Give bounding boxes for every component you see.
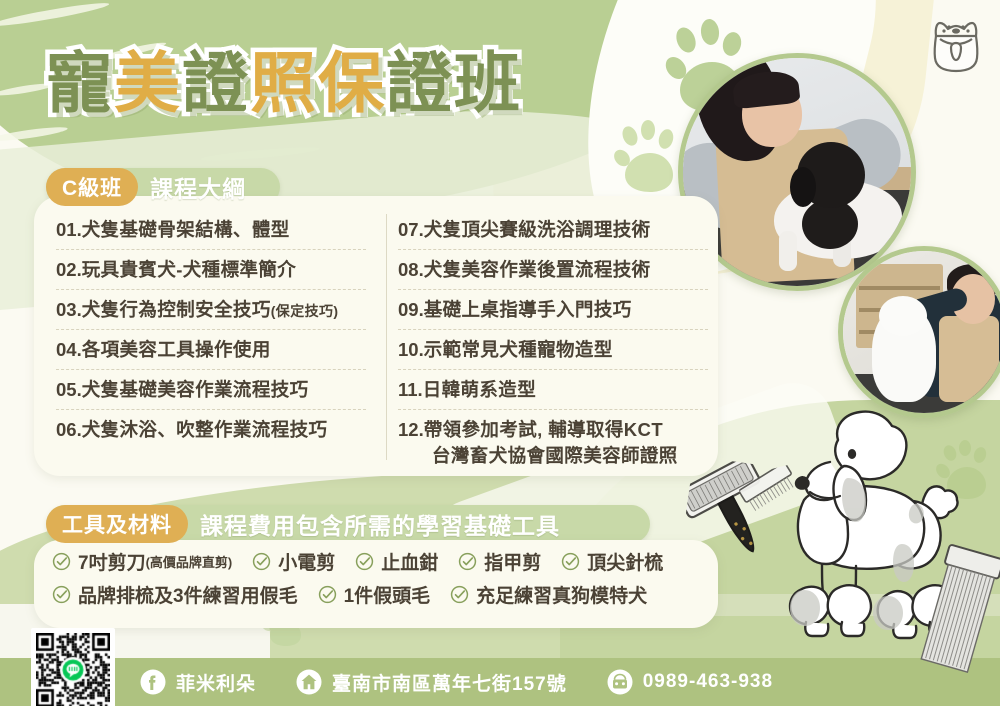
check-circle-icon: [355, 552, 374, 571]
course-outline-header: C級班 課程大綱: [46, 168, 266, 206]
course-item-number: 01.: [56, 219, 82, 240]
course-item: 03.犬隻行為控制安全技巧(保定技巧): [56, 290, 366, 330]
title-char: 保: [318, 50, 386, 116]
tools-badge: 工具及材料: [46, 505, 188, 543]
course-item-number: 06.: [56, 419, 82, 440]
course-item-number: 09.: [398, 299, 424, 320]
check-circle-icon: [252, 552, 271, 571]
course-item: 01.犬隻基礎骨架結構、體型: [56, 210, 366, 250]
tools-heading: 課程費用包含所需的學習基礎工具: [188, 507, 580, 541]
check-circle-icon: [458, 552, 477, 571]
photo-groomer-with-white-dog: [838, 246, 1000, 418]
course-item-text: 犬隻基礎骨架結構、體型: [82, 219, 290, 240]
tool-item: 小電剪: [252, 548, 335, 575]
course-item-number: 02.: [56, 259, 82, 280]
tools-row: 7吋剪刀(高價品牌直剪)小電剪止血鉗指甲剪頂尖針梳: [52, 548, 712, 575]
tool-item-label: 小電剪: [278, 548, 335, 575]
course-item-text: 基礎上桌指導手入門技巧: [424, 299, 632, 320]
tool-item-label: 1件假頭毛: [344, 581, 431, 608]
footer-item-text: 菲米利朵: [176, 669, 256, 696]
tool-item-label: 品牌排梳及3件練習用假毛: [78, 581, 298, 608]
title-char: 證: [386, 50, 454, 116]
course-item: 08.犬隻美容作業後置流程技術: [398, 250, 708, 290]
outline-level-badge: C級班: [46, 168, 138, 206]
phone-icon: [607, 669, 633, 695]
check-circle-icon: [458, 552, 477, 571]
check-circle-icon: [355, 552, 374, 571]
course-item-text: 日韓萌系造型: [423, 379, 536, 400]
check-circle-icon: [450, 585, 469, 604]
tool-item: 頂尖針梳: [561, 548, 663, 575]
course-item-number: 05.: [56, 379, 82, 400]
course-item-text: 犬隻行為控制安全技巧: [82, 299, 271, 320]
footer-item-text: 臺南市南區萬年七街157號: [332, 669, 567, 696]
check-circle-icon: [52, 585, 71, 604]
tool-item: 1件假頭毛: [318, 581, 431, 608]
check-circle-icon: [52, 552, 71, 571]
footer-item-text: 0989-463-938: [643, 671, 773, 693]
outline-heading: 課程大綱: [138, 170, 266, 204]
tool-item: 止血鉗: [355, 548, 438, 575]
check-circle-icon: [561, 552, 580, 571]
tool-item-label: 頂尖針梳: [587, 548, 663, 575]
course-outline-left-column: 01.犬隻基礎骨架結構、體型02.玩具貴賓犬-犬種標準簡介03.犬隻行為控制安全…: [34, 196, 376, 476]
title-char: 班: [454, 50, 522, 116]
page-title: 寵美證照保證班: [46, 50, 522, 116]
course-item-note: (保定技巧): [271, 303, 339, 319]
course-item-second-line: 台灣畜犬協會國際美容師證照: [398, 442, 708, 468]
line-qr-code[interactable]: [31, 628, 115, 706]
tool-item: 充足練習真狗模特犬: [450, 581, 647, 608]
course-item-text: 犬隻沐浴、吹整作業流程技巧: [82, 419, 328, 440]
course-item: 11.日韓萌系造型: [398, 370, 708, 410]
course-item: 12.帶領參加考試, 輔導取得KCT台灣畜犬協會國際美容師證照: [398, 410, 708, 475]
course-item-text: 犬隻基礎美容作業流程技巧: [82, 379, 309, 400]
course-item-number: 07.: [398, 219, 424, 240]
title-char: 美: [114, 50, 182, 116]
poster-root: 寵美證照保證班: [0, 0, 1000, 706]
check-circle-icon: [252, 552, 271, 571]
facebook-icon: [140, 669, 166, 695]
course-item-text: 犬隻美容作業後置流程技術: [424, 259, 651, 280]
check-circle-icon: [318, 585, 337, 604]
tool-item: 7吋剪刀(高價品牌直剪): [52, 548, 232, 575]
tool-item-label: 止血鉗: [381, 548, 438, 575]
footer-item[interactable]: 菲米利朵: [140, 669, 256, 696]
tool-item-note: (高價品牌直剪): [146, 552, 233, 571]
course-outline-right-column: 07.犬隻頂尖賽級洗浴調理技術08.犬隻美容作業後置流程技術09.基礎上桌指導手…: [376, 196, 718, 476]
tools-list: 7吋剪刀(高價品牌直剪)小電剪止血鉗指甲剪頂尖針梳 品牌排梳及3件練習用假毛1件…: [52, 548, 712, 608]
tools-row: 品牌排梳及3件練習用假毛1件假頭毛充足練習真狗模特犬: [52, 581, 712, 608]
check-circle-icon: [450, 585, 469, 604]
tool-item: 品牌排梳及3件練習用假毛: [52, 581, 298, 608]
course-item-text: 示範常見犬種寵物造型: [424, 339, 613, 360]
footer-item[interactable]: 臺南市南區萬年七街157號: [296, 669, 567, 696]
course-item-text: 各項美容工具操作使用: [82, 339, 271, 360]
course-outline-columns: 01.犬隻基礎骨架結構、體型02.玩具貴賓犬-犬種標準簡介03.犬隻行為控制安全…: [34, 196, 718, 476]
footer-contact-bar: 菲米利朵臺南市南區萬年七街157號0989-463-938: [140, 658, 920, 706]
check-circle-icon: [52, 585, 71, 604]
course-item: 06.犬隻沐浴、吹整作業流程技巧: [56, 410, 366, 449]
title-char: 證: [182, 50, 250, 116]
dog-face-logo: [922, 14, 990, 76]
tools-materials-header: 工具及材料 課程費用包含所需的學習基礎工具: [46, 505, 580, 543]
home-icon: [296, 669, 322, 695]
course-item-number: 08.: [398, 259, 424, 280]
tool-item-label: 指甲剪: [484, 548, 541, 575]
course-item-number: 11.: [398, 379, 423, 400]
check-circle-icon: [318, 585, 337, 604]
course-item-number: 04.: [56, 339, 82, 360]
course-item: 07.犬隻頂尖賽級洗浴調理技術: [398, 210, 708, 250]
course-item-text: 玩具貴賓犬-犬種標準簡介: [82, 259, 296, 280]
course-item: 09.基礎上桌指導手入門技巧: [398, 290, 708, 330]
tool-item-label: 7吋剪刀: [78, 548, 146, 575]
check-circle-icon: [561, 552, 580, 571]
course-item: 02.玩具貴賓犬-犬種標準簡介: [56, 250, 366, 290]
check-circle-icon: [52, 552, 71, 571]
footer-item[interactable]: 0989-463-938: [607, 669, 773, 695]
course-item-number: 12.: [398, 419, 424, 440]
title-char: 寵: [46, 50, 114, 116]
course-item: 10.示範常見犬種寵物造型: [398, 330, 708, 370]
tool-item: 指甲剪: [458, 548, 541, 575]
title-char: 照: [250, 50, 318, 116]
tool-item-label: 充足練習真狗模特犬: [476, 581, 647, 608]
course-item: 05.犬隻基礎美容作業流程技巧: [56, 370, 366, 410]
course-item: 04.各項美容工具操作使用: [56, 330, 366, 370]
course-item-text: 帶領參加考試, 輔導取得KCT: [424, 419, 663, 440]
course-item-number: 03.: [56, 299, 82, 320]
course-item-text: 犬隻頂尖賽級洗浴調理技術: [424, 219, 651, 240]
course-item-number: 10.: [398, 339, 424, 360]
